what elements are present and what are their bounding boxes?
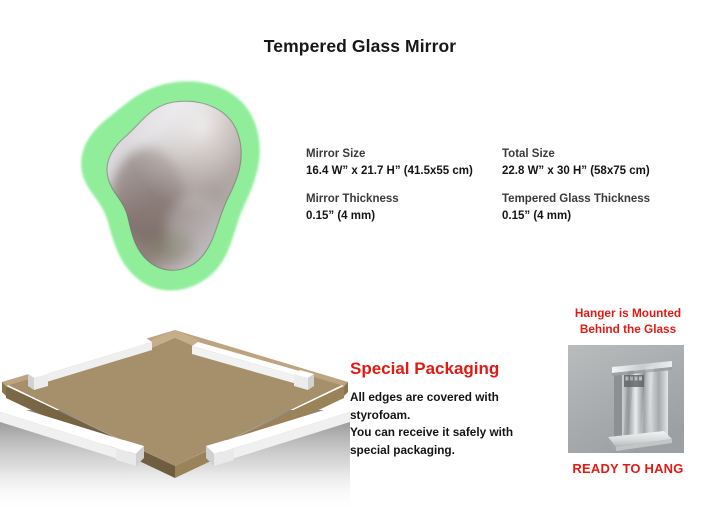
spec-column-left: Mirror Size 16.4 W” x 21.7 H” (41.5x55 c… <box>306 146 496 236</box>
packaging-description-line-1: All edges are covered with <box>350 389 560 407</box>
spec-value-mirror-size: 16.4 W” x 21.7 H” (41.5x55 cm) <box>306 163 496 180</box>
spec-value-tempered-glass-thickness: 0.15” (4 mm) <box>502 208 707 225</box>
spec-label-mirror-size: Mirror Size <box>306 146 496 163</box>
ready-to-hang-label: READY TO HANG <box>548 461 708 476</box>
packaging-description-line-4: special packaging. <box>350 442 560 460</box>
special-packaging-heading: Special Packaging <box>350 358 560 380</box>
packaging-box-illustration <box>0 326 350 512</box>
spec-column-right: Total Size 22.8 W” x 30 H” (58x75 cm) Te… <box>502 146 707 236</box>
spec-group-total-size: Total Size 22.8 W” x 30 H” (58x75 cm) <box>502 146 707 180</box>
spec-group-tempered-glass-thickness: Tempered Glass Thickness 0.15” (4 mm) <box>502 191 707 225</box>
hanger-panel: Hanger is Mounted Behind the Glass <box>548 306 708 337</box>
hanger-bracket <box>608 361 672 451</box>
special-packaging-info: Special Packaging All edges are covered … <box>350 358 560 459</box>
page-title: Tempered Glass Mirror <box>0 36 720 57</box>
spec-label-tempered-glass-thickness: Tempered Glass Thickness <box>502 191 707 208</box>
packaging-description-line-3: You can receive it safely with <box>350 424 560 442</box>
hanger-caption-line-2: Behind the Glass <box>548 322 708 338</box>
spec-label-total-size: Total Size <box>502 146 707 163</box>
mirror-illustration <box>78 78 278 300</box>
hanger-caption-line-1: Hanger is Mounted <box>548 306 708 322</box>
spec-group-mirror-size: Mirror Size 16.4 W” x 21.7 H” (41.5x55 c… <box>306 146 496 180</box>
spec-label-mirror-thickness: Mirror Thickness <box>306 191 496 208</box>
spec-value-total-size: 22.8 W” x 30 H” (58x75 cm) <box>502 163 707 180</box>
packaging-description-line-2: styrofoam. <box>350 407 560 425</box>
spec-group-mirror-thickness: Mirror Thickness 0.15” (4 mm) <box>306 191 496 225</box>
spec-value-mirror-thickness: 0.15” (4 mm) <box>306 208 496 225</box>
hanger-product-photo <box>568 345 684 453</box>
